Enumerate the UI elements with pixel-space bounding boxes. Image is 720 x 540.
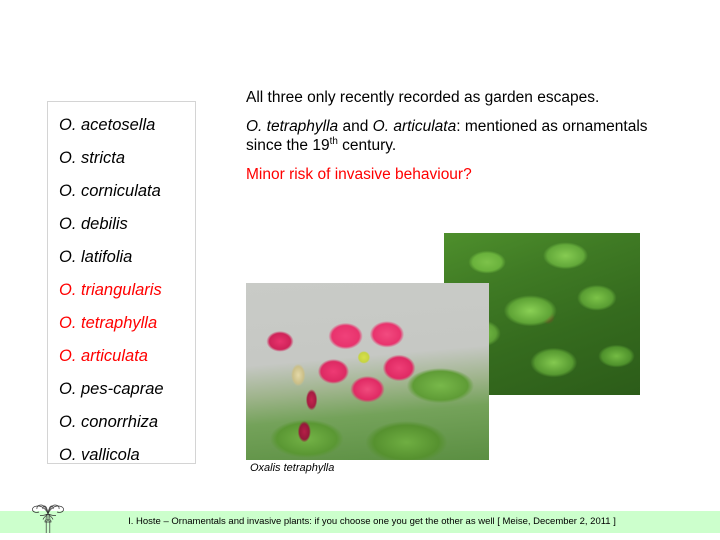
list-item: O. vallicola — [48, 439, 195, 472]
list-item-highlighted: O. triangularis — [48, 274, 195, 307]
body-text-block: All three only recently recorded as gard… — [246, 88, 666, 193]
list-item: O. debilis — [48, 208, 195, 241]
species-list-box: O. acetosella O. stricta O. corniculata … — [47, 101, 196, 464]
species-name-articulata: O. articulata — [373, 118, 457, 135]
footer-text: I. Hoste – Ornamentals and invasive plan… — [0, 511, 720, 533]
institute-plant-logo — [22, 500, 74, 536]
paragraph-2-tail: century. — [338, 137, 396, 154]
list-item: O. latifolia — [48, 241, 195, 274]
footer-bottom-spacer — [0, 533, 720, 540]
ordinal-suffix: th — [330, 136, 338, 147]
list-item: O. stricta — [48, 142, 195, 175]
list-item-highlighted: O. tetraphylla — [48, 307, 195, 340]
body-paragraph-3-highlighted: Minor risk of invasive behaviour? — [246, 165, 666, 185]
oxalis-flower-photo — [246, 283, 489, 460]
list-item: O. pes-caprae — [48, 373, 195, 406]
species-name-tetraphylla: O. tetraphylla — [246, 118, 338, 135]
list-item-highlighted: O. articulata — [48, 340, 195, 373]
conjunction-and: and — [338, 118, 372, 135]
list-item: O. acetosella — [48, 109, 195, 142]
species-list: O. acetosella O. stricta O. corniculata … — [48, 102, 195, 472]
body-paragraph-2: O. tetraphylla and O. articulata: mentio… — [246, 117, 666, 156]
list-item: O. conorrhiza — [48, 406, 195, 439]
body-paragraph-1: All three only recently recorded as gard… — [246, 88, 666, 108]
photo-caption: Oxalis tetraphylla — [250, 462, 334, 474]
list-item: O. corniculata — [48, 175, 195, 208]
